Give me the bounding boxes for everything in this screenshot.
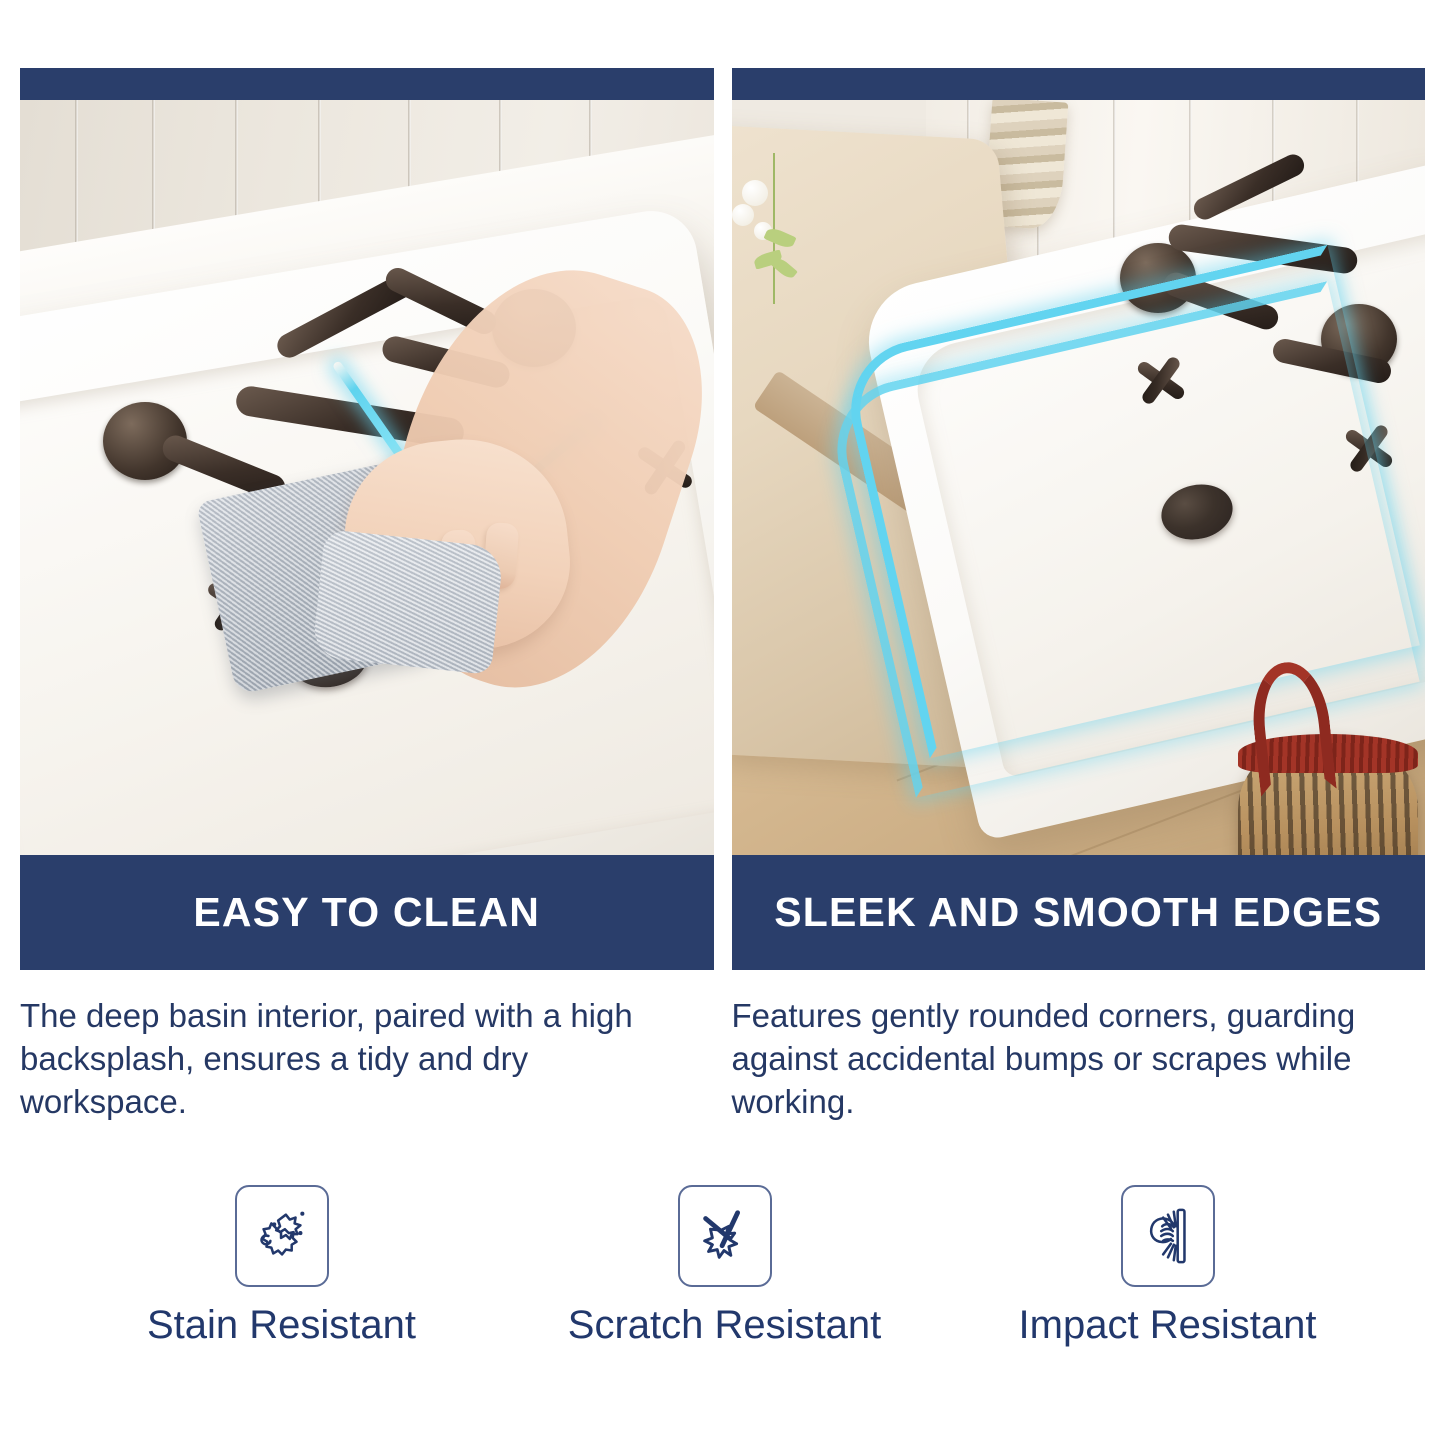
caption-title: EASY TO CLEAN	[193, 889, 540, 936]
feature-label: Impact Resistant	[1019, 1303, 1317, 1348]
panel-easy-to-clean: EASY TO CLEAN	[20, 68, 714, 970]
stain-splatter-icon	[251, 1205, 313, 1267]
scratch-starburst-icon	[694, 1205, 756, 1267]
feature-icon-box	[678, 1185, 772, 1287]
flower-bloom	[742, 180, 768, 206]
panel-top-accent-bar	[732, 68, 1426, 100]
caption-title: SLEEK AND SMOOTH EDGES	[774, 889, 1382, 936]
description-sleek-and-smooth-edges: Features gently rounded corners, guardin…	[732, 995, 1426, 1124]
description-column-right: Features gently rounded corners, guardin…	[732, 995, 1426, 1124]
microfiber-cloth-fold	[312, 529, 505, 675]
description-column-left: The deep basin interior, paired with a h…	[20, 995, 714, 1124]
description-easy-to-clean: The deep basin interior, paired with a h…	[20, 995, 714, 1124]
woven-basket	[1238, 734, 1418, 855]
caption-bar-easy-to-clean: EASY TO CLEAN	[20, 855, 714, 970]
feature-badge-row: Stain Resistant Scratch Resistant	[60, 1185, 1390, 1348]
feature-scratch-resistant: Scratch Resistant	[503, 1185, 946, 1348]
description-row: The deep basin interior, paired with a h…	[20, 995, 1425, 1124]
feature-label: Scratch Resistant	[568, 1303, 881, 1348]
photo-sleek-and-smooth-edges	[732, 100, 1426, 855]
panel-top-accent-bar	[20, 68, 714, 100]
white-flowers	[732, 153, 822, 304]
feature-icon-box	[235, 1185, 329, 1287]
impact-fist-panel-icon	[1137, 1205, 1199, 1267]
product-feature-page: EASY TO CLEAN	[0, 0, 1445, 1445]
feature-stain-resistant: Stain Resistant	[60, 1185, 503, 1348]
feature-icon-box	[1121, 1185, 1215, 1287]
flower-leaf	[764, 226, 797, 251]
panel-row: EASY TO CLEAN	[20, 68, 1425, 970]
feature-label: Stain Resistant	[147, 1303, 416, 1348]
photo-easy-to-clean	[20, 100, 714, 855]
flower-bloom	[732, 204, 754, 226]
feature-impact-resistant: Impact Resistant	[946, 1185, 1389, 1348]
caption-bar-sleek-and-smooth-edges: SLEEK AND SMOOTH EDGES	[732, 855, 1426, 970]
panel-sleek-and-smooth-edges: SLEEK AND SMOOTH EDGES	[732, 68, 1426, 970]
